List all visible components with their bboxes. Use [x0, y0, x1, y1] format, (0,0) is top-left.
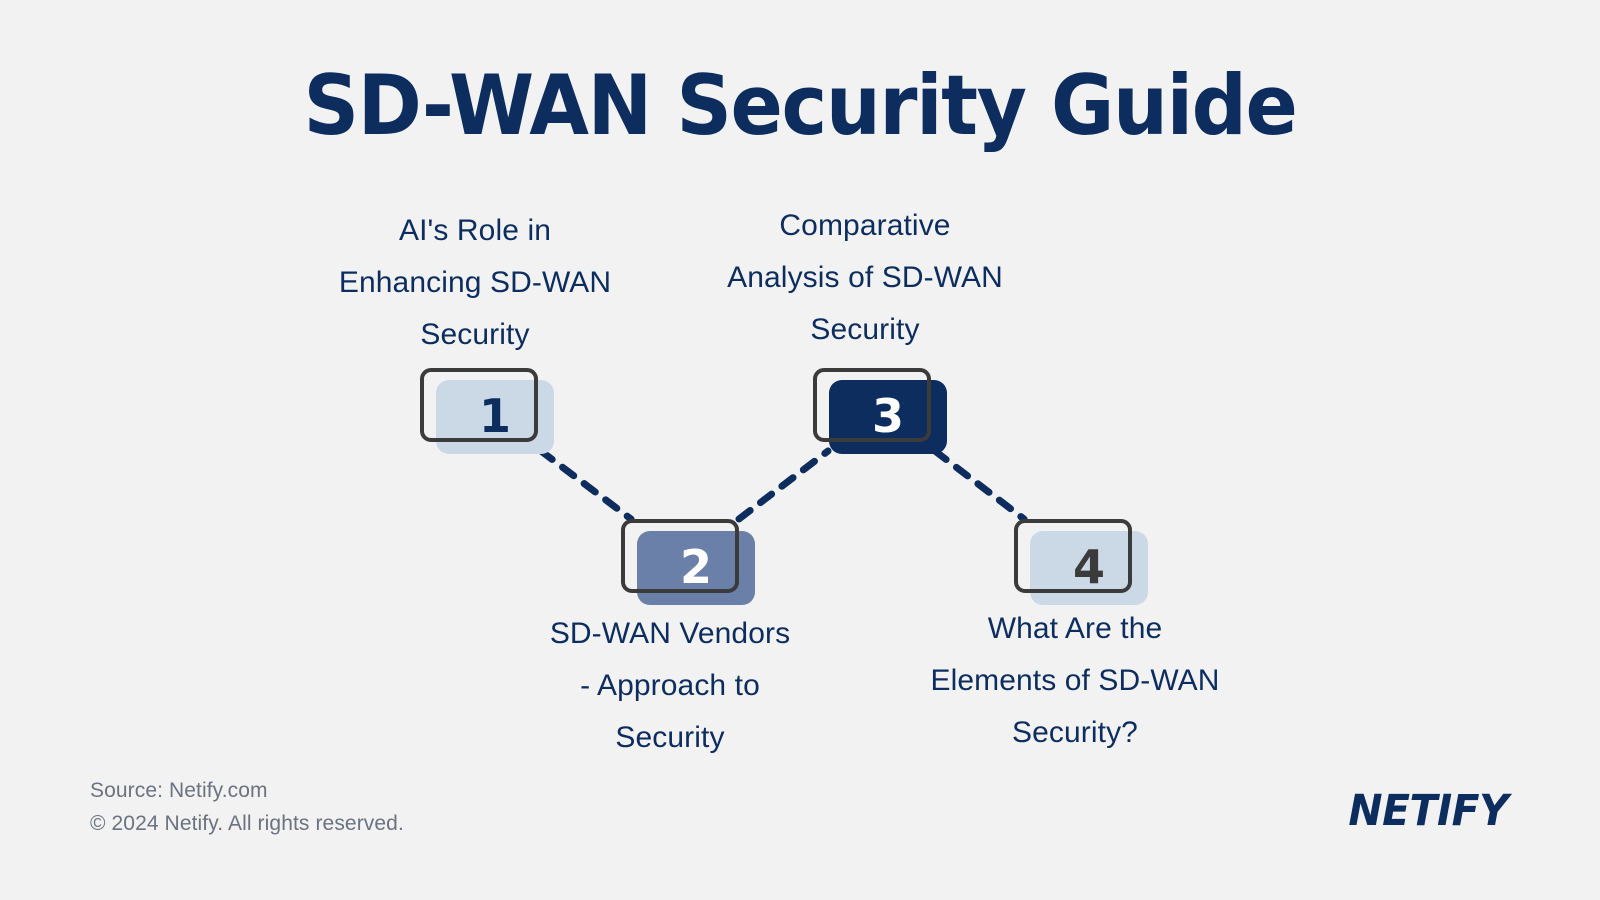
step-label-2-line-1: SD-WAN Vendors [490, 608, 850, 660]
step-node-4[interactable]: 4 [1014, 519, 1132, 593]
page-title: SD-WAN Security Guide [56, 62, 1544, 149]
netify-logo: NETIFY [1348, 786, 1508, 836]
step-badge-4[interactable]: 4 [1014, 519, 1132, 593]
footer-copyright: © 2024 Netify. All rights reserved. [90, 808, 404, 841]
step-badge-2[interactable]: 2 [621, 519, 739, 593]
step-label-4-line-1: What Are the [895, 603, 1255, 655]
footer-source: Source: Netify.com [90, 775, 404, 808]
step-node-3[interactable]: 3 [813, 368, 931, 442]
step-badge-1[interactable]: 1 [420, 368, 538, 442]
step-badge-3[interactable]: 3 [813, 368, 931, 442]
step-number-2: 2 [637, 531, 755, 605]
step-label-1-line-2: Enhancing SD-WAN [295, 257, 655, 309]
step-label-3: Comparative Analysis of SD-WAN Security [685, 200, 1045, 356]
connector-2-to-3 [739, 451, 828, 519]
connector-1-to-2 [541, 451, 631, 519]
step-number-1: 1 [436, 380, 554, 454]
step-number-3: 3 [829, 380, 947, 454]
infographic-canvas: SD-WAN Security Guide AI's Role in Enhan… [0, 0, 1600, 900]
step-label-2: SD-WAN Vendors - Approach to Security [490, 608, 850, 764]
step-label-1: AI's Role in Enhancing SD-WAN Security [295, 205, 655, 361]
connector-3-to-4 [935, 451, 1024, 519]
step-label-4-line-3: Security? [895, 707, 1255, 759]
step-node-2[interactable]: 2 [621, 519, 739, 593]
step-label-4: What Are the Elements of SD-WAN Security… [895, 603, 1255, 759]
step-label-3-line-1: Comparative [685, 200, 1045, 252]
step-label-2-line-2: - Approach to [490, 660, 850, 712]
step-label-4-line-2: Elements of SD-WAN [895, 655, 1255, 707]
step-number-4: 4 [1030, 531, 1148, 605]
step-label-1-line-1: AI's Role in [295, 205, 655, 257]
step-label-3-line-2: Analysis of SD-WAN [685, 252, 1045, 304]
step-label-1-line-3: Security [295, 309, 655, 361]
step-label-3-line-3: Security [685, 304, 1045, 356]
step-node-1[interactable]: 1 [420, 368, 538, 442]
footer-attribution: Source: Netify.com © 2024 Netify. All ri… [90, 775, 404, 840]
step-label-2-line-3: Security [490, 712, 850, 764]
